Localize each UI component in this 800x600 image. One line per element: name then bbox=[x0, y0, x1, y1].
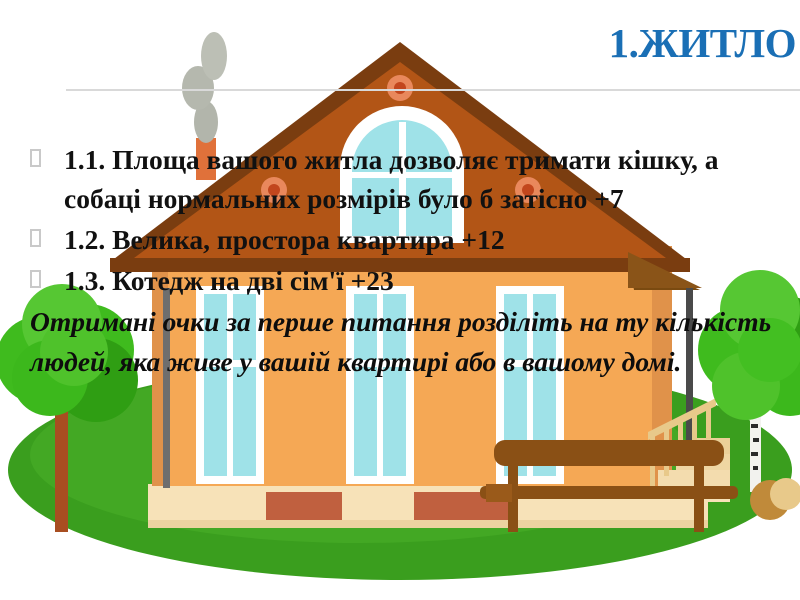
porch-floor bbox=[148, 484, 708, 526]
slide-body: 1.1. Площа вашого житла дозволяє тримати… bbox=[18, 140, 778, 382]
bullet-missing-glyph-icon bbox=[30, 229, 41, 247]
roof-ornament-top bbox=[387, 75, 413, 101]
grass-highlight bbox=[30, 367, 690, 543]
slide-canvas: 1.ЖИТЛО 1.1. Площа вашого житла дозволяє… bbox=[0, 0, 800, 600]
porch-floor-edge bbox=[148, 520, 708, 528]
bush-right bbox=[750, 478, 800, 520]
list-item: 1.1. Площа вашого житла дозволяє тримати… bbox=[18, 140, 778, 218]
header-divider bbox=[66, 89, 800, 91]
birch-trunk bbox=[750, 400, 761, 492]
note-paragraph: Отримані очки за перше питання розділіть… bbox=[18, 302, 778, 382]
page-title: 1.ЖИТЛО bbox=[196, 18, 796, 68]
porch-stairs bbox=[640, 438, 730, 502]
smoke-puff-1 bbox=[194, 101, 218, 143]
bullet-list: 1.1. Площа вашого житла дозволяє тримати… bbox=[18, 140, 778, 300]
porch-railing bbox=[648, 398, 716, 490]
porch-vent-left bbox=[266, 492, 342, 520]
tree-left-trunk bbox=[55, 400, 68, 532]
porch-vent-right bbox=[414, 492, 512, 520]
list-item: 1.2. Велика, простора квартира +12 bbox=[18, 220, 778, 259]
list-item: 1.3. Котедж на дві сім'ї +23 bbox=[18, 261, 778, 300]
garden-bench bbox=[480, 440, 738, 532]
bullet-text: 1.2. Велика, простора квартира +12 bbox=[64, 224, 505, 255]
grass-ground bbox=[8, 360, 792, 580]
bullet-missing-glyph-icon bbox=[30, 270, 41, 288]
bullet-missing-glyph-icon bbox=[30, 149, 41, 167]
bullet-text: 1.3. Котедж на дві сім'ї +23 bbox=[64, 265, 394, 296]
smoke-puff-2 bbox=[182, 66, 214, 110]
bullet-text: 1.1. Площа вашого житла дозволяє тримати… bbox=[64, 144, 718, 214]
